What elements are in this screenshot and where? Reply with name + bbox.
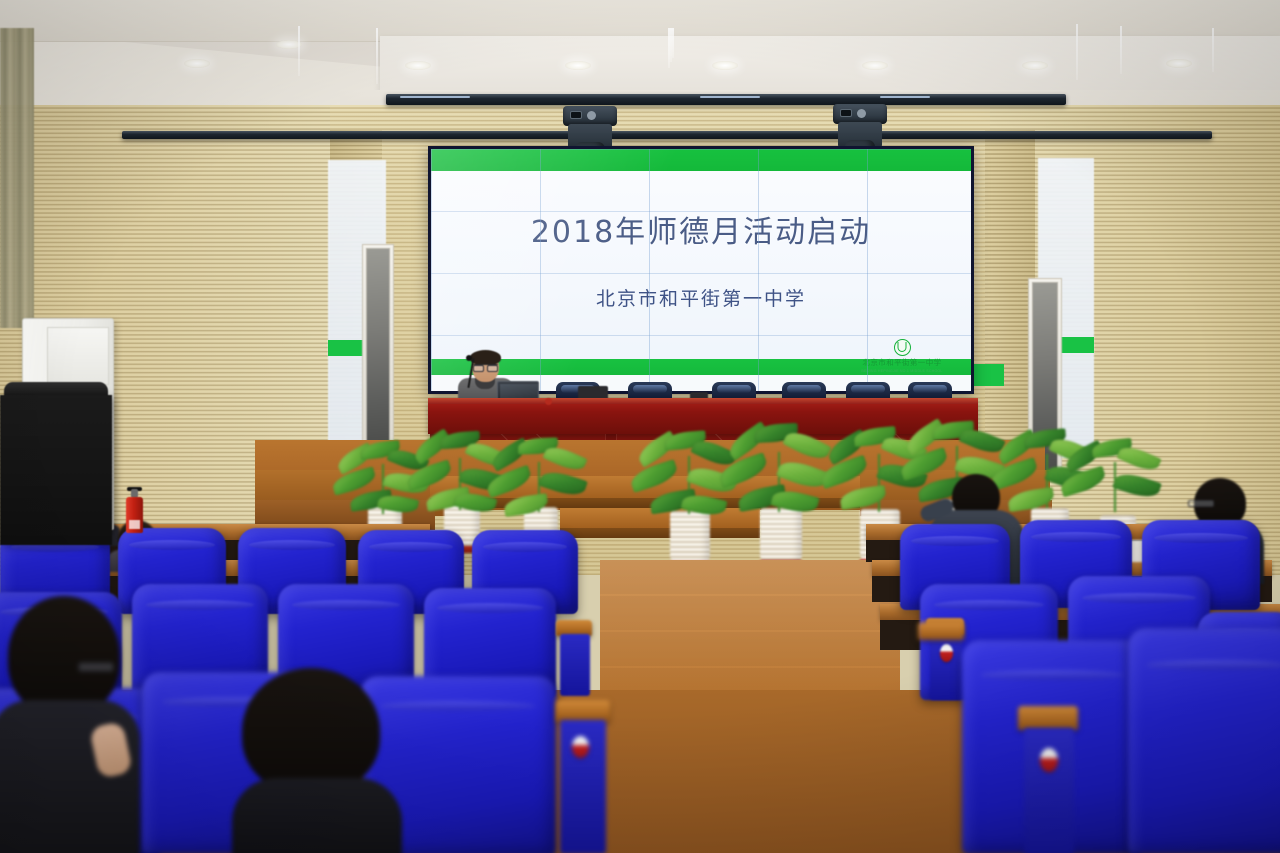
extinguisher-label: [129, 520, 140, 529]
seat-armrest: [1018, 706, 1078, 730]
glasses-icon: [78, 662, 114, 672]
slide-title: 2018年师德月活动启动: [431, 207, 971, 251]
glasses-icon: [473, 364, 498, 369]
par-spotlight: [790, 99, 824, 141]
seat-armrest: [556, 700, 610, 722]
ceiling-cable: [298, 26, 300, 76]
auditorium-seat[interactable]: [1128, 628, 1280, 853]
truss-highlight: [880, 96, 930, 98]
ceiling-cable: [1120, 26, 1122, 74]
attendee-head: [242, 668, 380, 794]
moving-head-knob: [587, 111, 596, 120]
audio-speaker: [0, 395, 112, 545]
seat-number-badge: [1040, 748, 1058, 772]
presidium-table-top: [428, 398, 978, 404]
moving-head-display: [840, 109, 852, 117]
moving-head-knob: [857, 109, 866, 118]
ac-grill: [47, 327, 109, 385]
downlight-icon: [184, 59, 210, 68]
seat-arm-body: [560, 634, 590, 696]
seat-arm-body: [1024, 728, 1074, 853]
downlight-icon: [405, 61, 431, 70]
school-logo: 北京市和平街第一中学 BEIJING HEPINGJIE NO.1 MIDDLE…: [847, 339, 957, 373]
lighting-truss-lower: [122, 131, 1212, 139]
attendee-shoulders: [232, 778, 402, 853]
par-spotlight: [423, 97, 457, 139]
plant-pot: [760, 508, 802, 562]
microphone-icon: [466, 355, 472, 361]
downlight-icon: [862, 61, 888, 70]
downlight-icon: [712, 61, 738, 70]
attendee-shoulders: [0, 700, 140, 853]
ceiling-cable: [672, 28, 674, 58]
attendee: [0, 596, 140, 853]
school-logo-name-en: BEIJING HEPINGJIE NO.1 MIDDLE SCHOOL: [847, 369, 957, 373]
school-logo-name-cn: 北京市和平街第一中学: [847, 357, 957, 368]
downlight-icon: [1022, 61, 1048, 70]
downlight-icon: [1166, 59, 1192, 68]
glasses-icon: [1188, 500, 1214, 507]
school-emblem-icon: [894, 339, 911, 356]
attendee: [232, 668, 402, 853]
ceiling-cable: [1076, 24, 1078, 80]
truss-highlight: [700, 96, 760, 98]
seat-number-badge: [940, 644, 953, 662]
par-spotlight: [690, 99, 724, 141]
seat-number-badge: [572, 736, 589, 758]
slide-subtitle: 北京市和平街第一中学: [431, 284, 971, 311]
ceiling-bulkhead: [380, 36, 1280, 94]
plant-pot: [670, 511, 710, 563]
auditorium-photo: 2018年师德月活动启动 北京市和平街第一中学 北京市和平街第一中学 BEIJI…: [0, 0, 1280, 853]
stage-left-door[interactable]: [366, 248, 390, 452]
ceiling-cable: [1212, 28, 1214, 72]
attendee-head: [8, 596, 120, 716]
table-microphone: [545, 398, 552, 405]
side-curtain: [0, 28, 34, 328]
moving-head-display: [570, 111, 582, 119]
seat-armrest: [918, 622, 964, 640]
ceiling-cable: [376, 28, 378, 84]
slide-band-top: [431, 149, 971, 171]
par-spotlight: [933, 97, 967, 139]
ceiling-cable: [668, 28, 670, 68]
downlight-icon: [565, 61, 591, 70]
